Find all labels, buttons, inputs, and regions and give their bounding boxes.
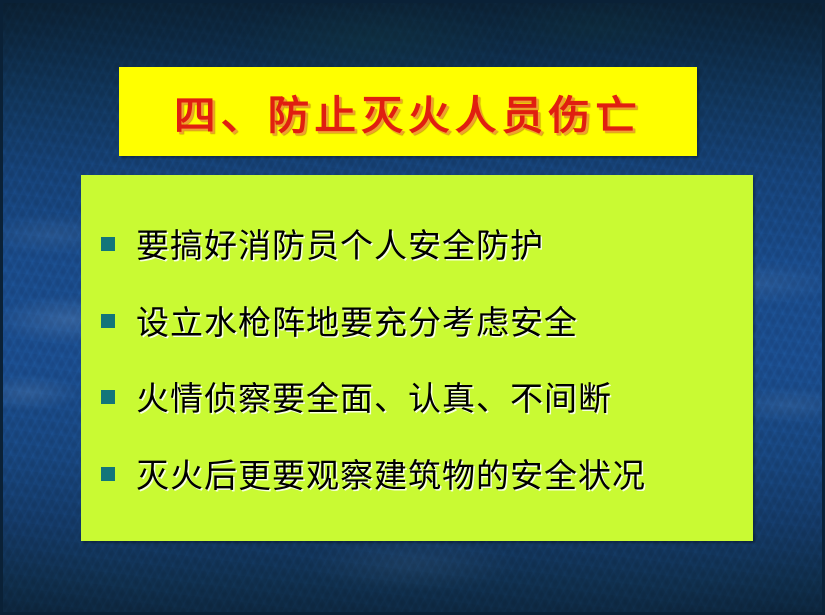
bullet-text: 火情侦察要全面、认真、不间断 [136, 372, 612, 420]
slide-body-panel: 要搞好消防员个人安全防护 设立水枪阵地要充分考虑安全 火情侦察要全面、认真、不间… [81, 175, 753, 541]
bullet-text: 设立水枪阵地要充分考虑安全 [136, 296, 578, 344]
presentation-slide: 四、防止灭火人员伤亡 要搞好消防员个人安全防护 设立水枪阵地要充分考虑安全 火情… [0, 0, 825, 615]
list-item: 火情侦察要全面、认真、不间断 [93, 372, 737, 420]
bullet-text: 灭火后更要观察建筑物的安全状况 [136, 449, 646, 497]
list-item: 灭火后更要观察建筑物的安全状况 [93, 449, 737, 497]
list-item: 要搞好消防员个人安全防护 [93, 219, 737, 267]
bullet-text: 要搞好消防员个人安全防护 [136, 219, 544, 267]
square-bullet-icon [101, 237, 115, 251]
slide-title-text: 四、防止灭火人员伤亡 [174, 83, 642, 141]
square-bullet-icon [101, 467, 115, 481]
slide-title-banner: 四、防止灭火人员伤亡 [119, 67, 697, 156]
list-item: 设立水枪阵地要充分考虑安全 [93, 296, 737, 344]
square-bullet-icon [101, 314, 115, 328]
square-bullet-icon [101, 390, 115, 404]
